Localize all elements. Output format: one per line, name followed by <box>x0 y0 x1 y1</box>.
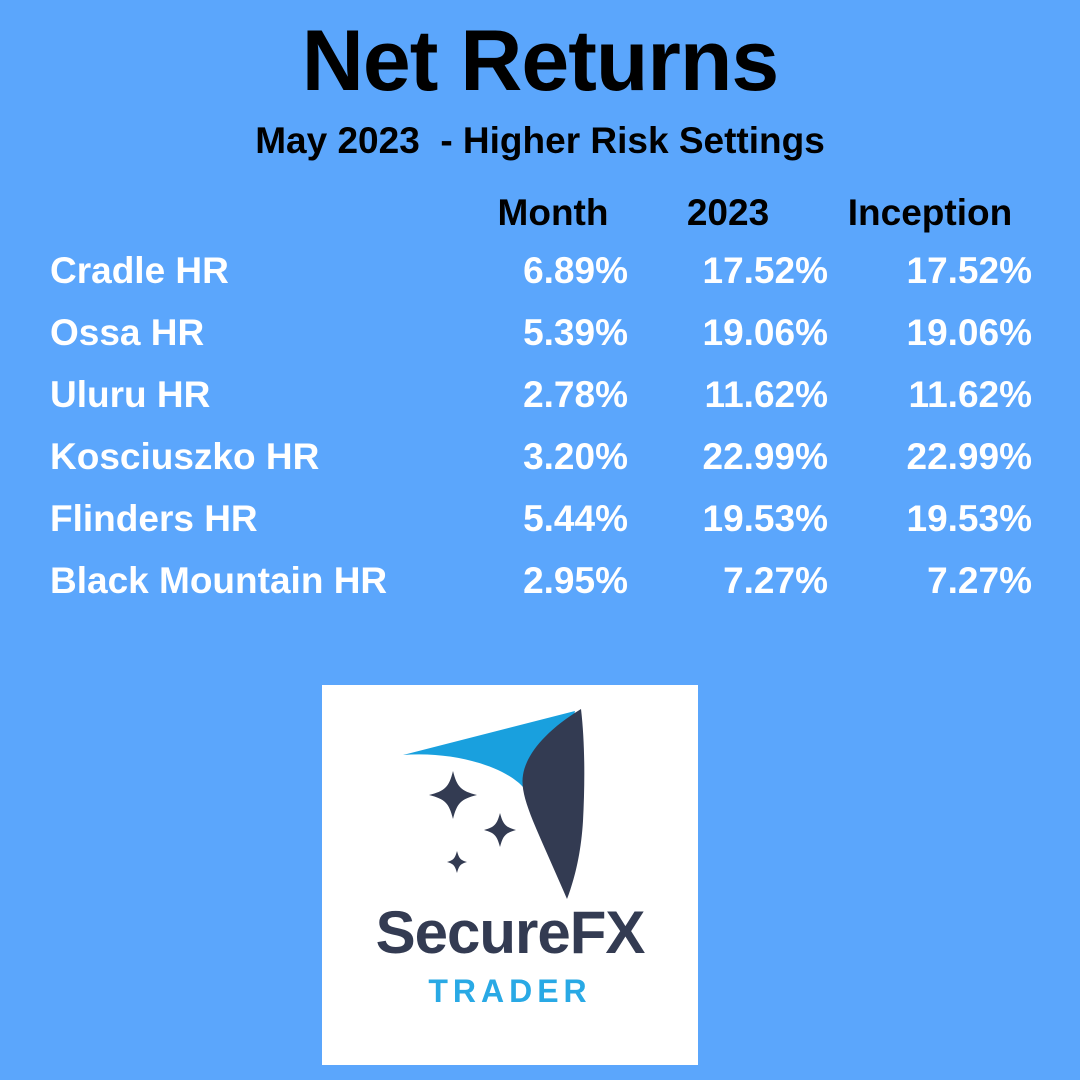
table-row: Ossa HR 5.39% 19.06% 19.06% <box>50 312 1040 374</box>
row-label: Cradle HR <box>50 250 478 292</box>
logo-wordmark-primary: Secure <box>376 899 570 966</box>
cell-month: 2.95% <box>478 560 628 602</box>
cell-month: 5.44% <box>478 498 628 540</box>
table-header-row: Month 2023 Inception <box>50 192 1040 250</box>
cell-2023: 19.06% <box>628 312 828 354</box>
returns-table: Month 2023 Inception Cradle HR 6.89% 17.… <box>50 192 1040 622</box>
cell-2023: 22.99% <box>628 436 828 478</box>
cell-month: 3.20% <box>478 436 628 478</box>
page-subtitle: May 2023 - Higher Risk Settings <box>0 122 1080 159</box>
cell-2023: 11.62% <box>628 374 828 416</box>
cell-2023: 7.27% <box>628 560 828 602</box>
logo-card: SecureFX TRADER <box>322 685 698 1065</box>
cell-inception: 7.27% <box>828 560 1032 602</box>
cell-inception: 11.62% <box>828 374 1032 416</box>
cell-inception: 22.99% <box>828 436 1032 478</box>
row-label: Ossa HR <box>50 312 478 354</box>
table-row: Cradle HR 6.89% 17.52% 17.52% <box>50 250 1040 312</box>
row-label: Flinders HR <box>50 498 478 540</box>
logo-wordmark: SecureFX <box>322 903 698 963</box>
table-row: Kosciuszko HR 3.20% 22.99% 22.99% <box>50 436 1040 498</box>
paper-plane-icon <box>395 703 625 903</box>
logo-tagline: TRADER <box>322 975 698 1007</box>
cell-2023: 19.53% <box>628 498 828 540</box>
cell-2023: 17.52% <box>628 250 828 292</box>
table-row: Flinders HR 5.44% 19.53% 19.53% <box>50 498 1040 560</box>
column-header-month: Month <box>478 192 628 234</box>
row-label: Black Mountain HR <box>50 560 478 602</box>
cell-month: 2.78% <box>478 374 628 416</box>
row-label: Uluru HR <box>50 374 478 416</box>
column-header-2023: 2023 <box>628 192 828 234</box>
cell-inception: 17.52% <box>828 250 1032 292</box>
page-title: Net Returns <box>0 18 1080 104</box>
cell-month: 6.89% <box>478 250 628 292</box>
table-row: Black Mountain HR 2.95% 7.27% 7.27% <box>50 560 1040 622</box>
column-header-inception: Inception <box>828 192 1032 234</box>
net-returns-poster: Net Returns May 2023 - Higher Risk Setti… <box>0 0 1080 1080</box>
cell-inception: 19.53% <box>828 498 1032 540</box>
cell-month: 5.39% <box>478 312 628 354</box>
table-row: Uluru HR 2.78% 11.62% 11.62% <box>50 374 1040 436</box>
cell-inception: 19.06% <box>828 312 1032 354</box>
logo-wordmark-secondary: FX <box>570 899 645 966</box>
row-label: Kosciuszko HR <box>50 436 478 478</box>
